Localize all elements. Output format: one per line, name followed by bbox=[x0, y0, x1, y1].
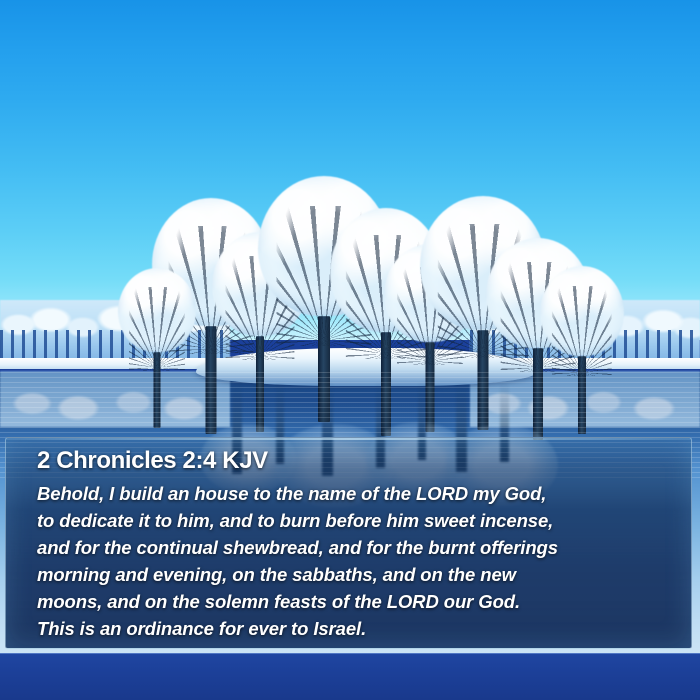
verse-line: Behold, I build an house to the name of … bbox=[37, 480, 673, 507]
tree-branches bbox=[129, 287, 185, 371]
verse-line: moons, and on the solemn feasts of the L… bbox=[37, 588, 673, 615]
verse-line: morning and evening, on the sabbaths, an… bbox=[37, 561, 673, 588]
verse-line: This is an ordinance for ever to Israel. bbox=[37, 615, 673, 642]
verse-image: 2 Chronicles 2:4 KJV Behold, I build an … bbox=[0, 0, 700, 700]
tree-branches bbox=[552, 286, 612, 376]
verse-line: and for the continual shewbread, and for… bbox=[37, 534, 673, 561]
bottom-bar bbox=[0, 653, 700, 700]
verse-reference: 2 Chronicles 2:4 KJV bbox=[37, 446, 673, 476]
verse-text-panel: 2 Chronicles 2:4 KJV Behold, I build an … bbox=[5, 437, 692, 649]
verse-line: to dedicate it to him, and to burn befor… bbox=[37, 507, 673, 534]
verse-body: Behold, I build an house to the name of … bbox=[37, 480, 673, 642]
